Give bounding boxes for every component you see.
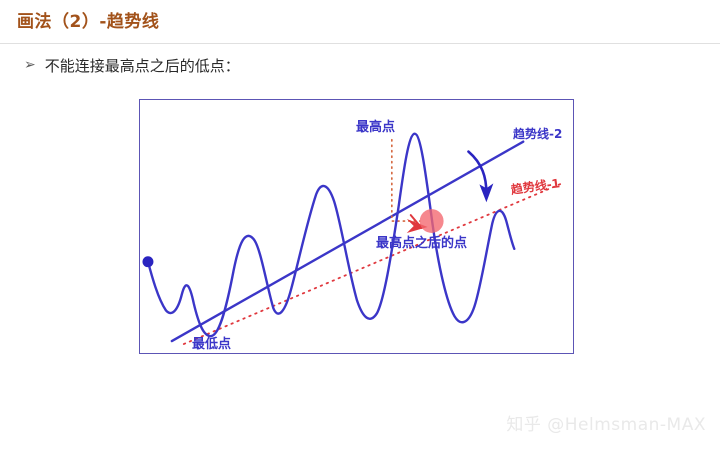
bullet-text: 不能连接最高点之后的低点： <box>45 56 240 76</box>
trendline-1-line <box>184 183 562 344</box>
page-title: 画法（2）-趋势线 <box>17 10 159 34</box>
title-divider <box>0 43 720 44</box>
bullet-row: ➢ 不能连接最高点之后的低点： <box>24 56 240 76</box>
price-line <box>148 134 514 336</box>
slide: 画法（2）-趋势线 ➢ 不能连接最高点之后的低点： 最 <box>0 0 720 451</box>
after-highest-dot <box>420 209 444 233</box>
chart-frame <box>139 99 574 354</box>
watermark: 知乎 @Helmsman-MAX <box>506 410 706 435</box>
trendline-chart <box>140 100 573 353</box>
start-dot <box>142 256 153 267</box>
bullet-arrow-icon: ➢ <box>24 58 36 72</box>
